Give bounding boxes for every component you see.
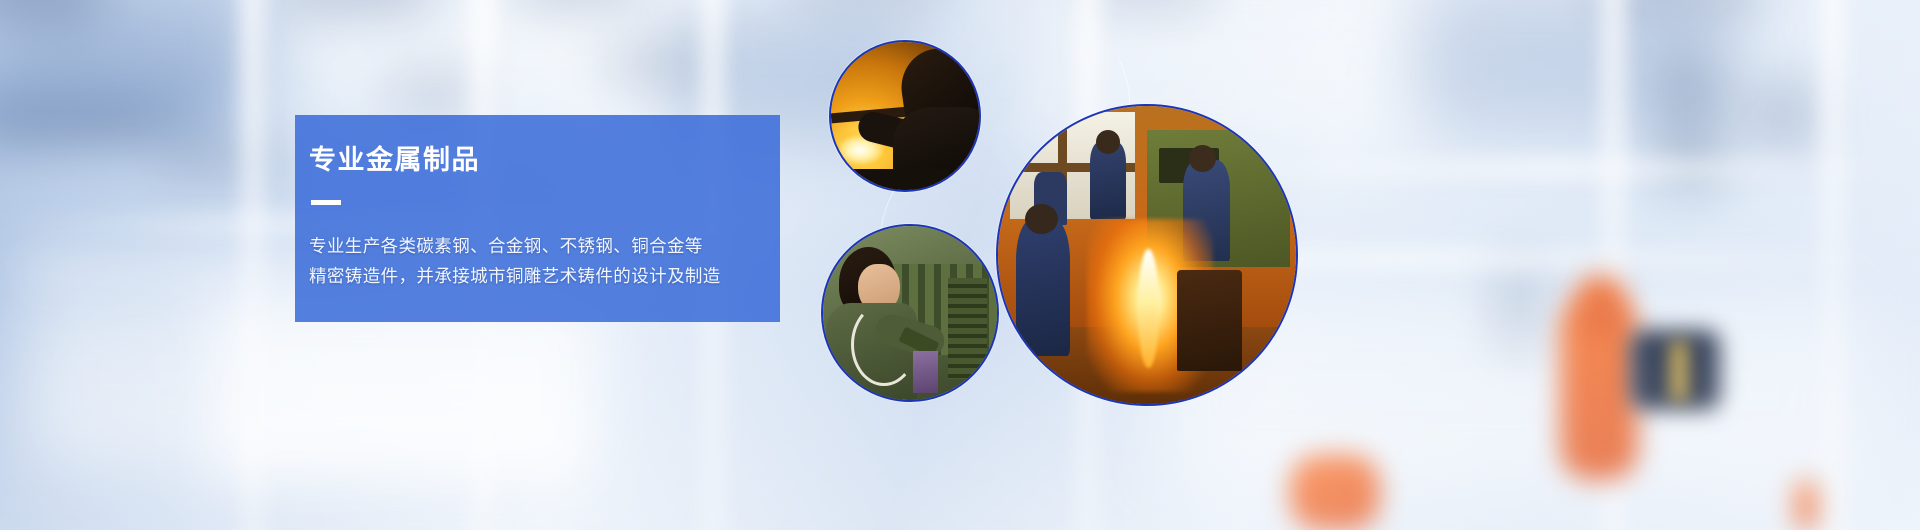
hero-text-panel: 专业金属制品 专业生产各类碳素钢、合金钢、不锈钢、铜合金等 精密铸造件，并承接城… bbox=[295, 115, 780, 322]
title-divider bbox=[311, 200, 341, 205]
hero-description: 专业生产各类碳素钢、合金钢、不锈钢、铜合金等 精密铸造件，并承接城市铜雕艺术铸件… bbox=[309, 231, 780, 291]
hero-banner: 专业金属制品 专业生产各类碳素钢、合金钢、不锈钢、铜合金等 精密铸造件，并承接城… bbox=[0, 0, 1920, 530]
welding-photo bbox=[829, 40, 981, 192]
assembly-photo bbox=[821, 224, 999, 402]
hero-description-line-2: 精密铸造件，并承接城市铜雕艺术铸件的设计及制造 bbox=[309, 261, 780, 291]
foundry-photo bbox=[996, 104, 1298, 406]
page-title: 专业金属制品 bbox=[309, 147, 780, 174]
hero-description-line-1: 专业生产各类碳素钢、合金钢、不锈钢、铜合金等 bbox=[309, 231, 780, 261]
